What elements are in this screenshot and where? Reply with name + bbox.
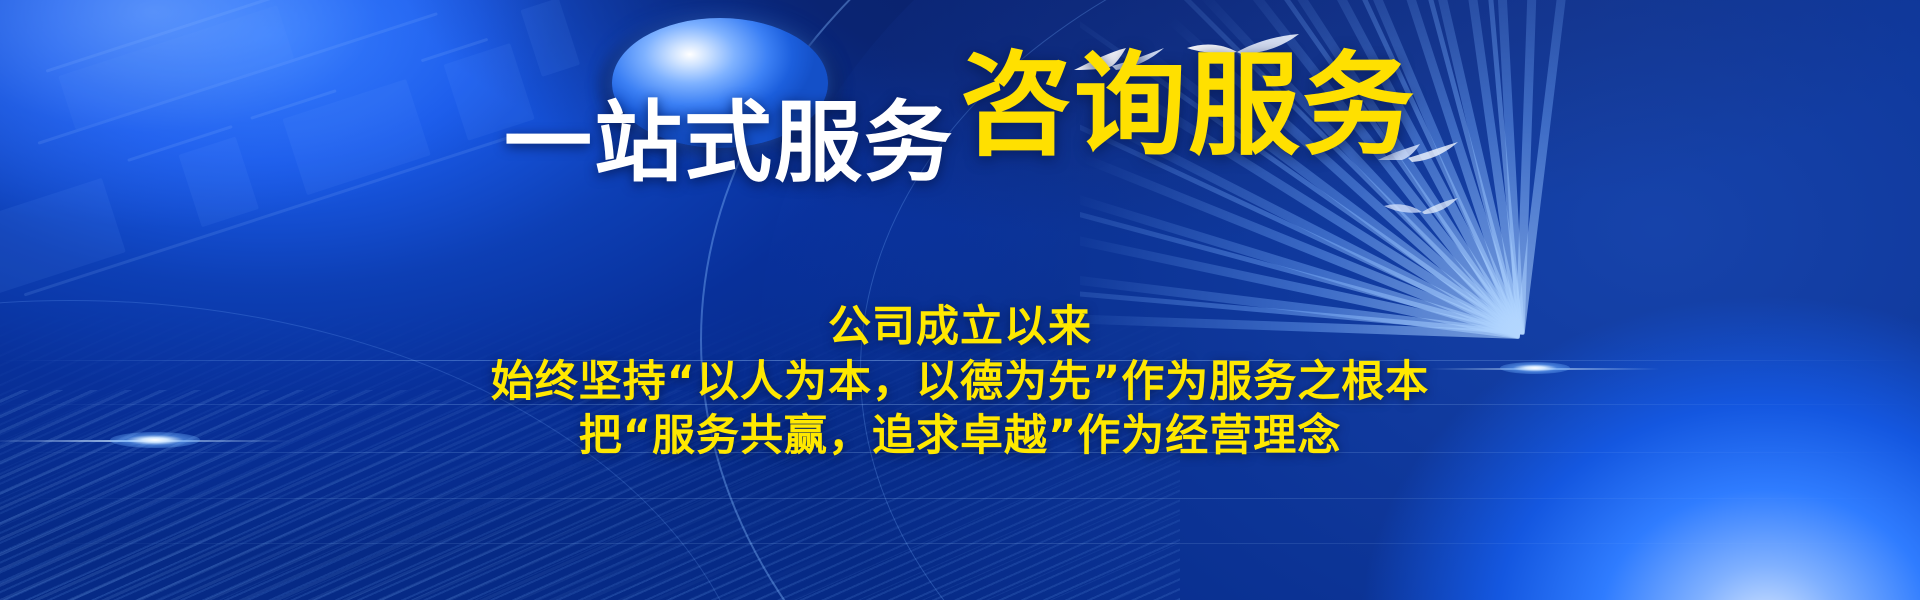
headline-accent: 咨询服务 — [960, 56, 1416, 157]
headline: 一站式服务 咨询服务 — [0, 86, 1920, 187]
headline-primary: 一站式服务 — [504, 99, 954, 187]
scan-line — [0, 498, 1920, 499]
body-line-1: 公司成立以来 — [0, 300, 1920, 355]
body-line-3: 把“服务共赢，追求卓越”作为经营理念 — [0, 409, 1920, 464]
service-banner: 一站式服务 咨询服务 公司成立以来 始终坚持“以人为本，以德为先”作为服务之根本… — [0, 0, 1920, 600]
scan-line — [0, 543, 1920, 544]
body-line-2: 始终坚持“以人为本，以德为先”作为服务之根本 — [0, 355, 1920, 410]
body-text-block: 公司成立以来 始终坚持“以人为本，以德为先”作为服务之根本 把“服务共赢，追求卓… — [0, 300, 1920, 464]
seagull-icon — [1382, 196, 1460, 222]
